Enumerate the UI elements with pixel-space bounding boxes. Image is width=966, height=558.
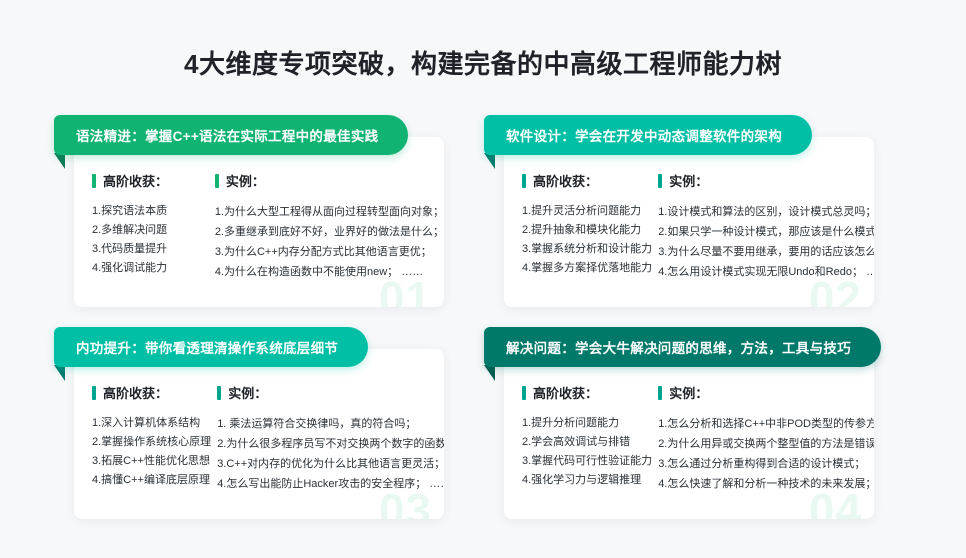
gains-heading: 高阶收获： (92, 171, 209, 190)
list-item: 2.掌握操作系统核心原理 (92, 433, 211, 452)
card-body: 01 高阶收获： 1.探究语法本质 2.多维解决问题 3.代码质量提升 4.强化… (74, 137, 444, 307)
list-item: 4.强化调试能力 (92, 259, 209, 278)
examples-heading: 实例： (658, 383, 874, 402)
list-item: 3.掌握系统分析和设计能力 (522, 240, 652, 259)
accent-bar-icon (215, 174, 219, 188)
gains-heading: 高阶收获： (92, 383, 211, 402)
gains-list: 1.提升灵活分析问题能力 2.提升抽象和模块化能力 3.掌握系统分析和设计能力 … (522, 202, 652, 278)
gains-list: 1.探究语法本质 2.多维解决问题 3.代码质量提升 4.强化调试能力 (92, 202, 209, 278)
examples-heading: 实例： (215, 171, 444, 190)
card-body: 04 高阶收获： 1.提升分析问题能力 2.学会高效调试与排错 3.掌握代码可行… (504, 349, 874, 519)
card-body: 03 高阶收获： 1.深入计算机体系结构 2.掌握操作系统核心原理 3.拓展C+… (74, 349, 444, 519)
list-item: 3.掌握代码可行性验证能力 (522, 452, 652, 471)
list-item: 1. 乘法运算符合交换律吗，真的符合吗； (217, 414, 444, 434)
list-item: 2.多重继承到底好不好，业界好的做法是什么； (215, 222, 444, 242)
card-ribbon-header[interactable]: 语法精进：掌握C++语法在实际工程中的最佳实践 (54, 115, 408, 155)
accent-bar-icon (92, 174, 96, 188)
list-item: 3.C++对内存的优化为什么比其他语言更灵活； (217, 454, 444, 474)
gains-column: 高阶收获： 1.深入计算机体系结构 2.掌握操作系统核心原理 3.拓展C++性能… (74, 383, 211, 494)
list-item: 4.搞懂C++编译底层原理 (92, 471, 211, 490)
card-ribbon-header[interactable]: 解决问题：学会大牛解决问题的思维，方法，工具与技巧 (484, 327, 881, 367)
examples-list: 1.为什么大型工程得从面向过程转型面向对象； 2.多重继承到底好不好，业界好的做… (215, 202, 444, 282)
examples-column: 实例： 1.怎么分析和选择C++中非POD类型的传参方式； 2.为什么用异或交换… (652, 383, 874, 494)
gains-column: 高阶收获： 1.探究语法本质 2.多维解决问题 3.代码质量提升 4.强化调试能… (74, 171, 209, 282)
gains-heading: 高阶收获： (522, 171, 652, 190)
gains-column: 高阶收获： 1.提升灵活分析问题能力 2.提升抽象和模块化能力 3.掌握系统分析… (504, 171, 652, 282)
capability-card[interactable]: 03 高阶收获： 1.深入计算机体系结构 2.掌握操作系统核心原理 3.拓展C+… (52, 327, 444, 519)
accent-bar-icon (658, 174, 662, 188)
examples-column: 实例： 1.为什么大型工程得从面向过程转型面向对象； 2.多重继承到底好不好，业… (209, 171, 444, 282)
list-item: 3.拓展C++性能优化思想 (92, 452, 211, 471)
examples-list: 1.设计模式和算法的区别，设计模式总灵吗； 2.如果只学一种设计模式，那应该是什… (658, 202, 874, 282)
accent-bar-icon (217, 386, 221, 400)
examples-heading-label: 实例： (228, 383, 267, 402)
examples-heading-label: 实例： (669, 383, 708, 402)
list-item: 4.怎么用设计模式实现无限Undo和Redo； …… (658, 262, 874, 282)
list-item: 4.掌握多方案择优落地能力 (522, 259, 652, 278)
capability-card-grid: 01 高阶收获： 1.探究语法本质 2.多维解决问题 3.代码质量提升 4.强化… (52, 115, 918, 519)
list-item: 2.学会高效调试与排错 (522, 433, 652, 452)
capability-card[interactable]: 02 高阶收获： 1.提升灵活分析问题能力 2.提升抽象和模块化能力 3.掌握系… (482, 115, 874, 307)
card-columns: 高阶收获： 1.提升灵活分析问题能力 2.提升抽象和模块化能力 3.掌握系统分析… (504, 171, 874, 282)
ribbon-fold-icon (484, 365, 495, 381)
gains-heading-label: 高阶收获： (533, 171, 598, 190)
capability-card[interactable]: 04 高阶收获： 1.提升分析问题能力 2.学会高效调试与排错 3.掌握代码可行… (482, 327, 874, 519)
gains-column: 高阶收获： 1.提升分析问题能力 2.学会高效调试与排错 3.掌握代码可行性验证… (504, 383, 652, 494)
examples-heading: 实例： (658, 171, 874, 190)
accent-bar-icon (522, 386, 526, 400)
gains-list: 1.深入计算机体系结构 2.掌握操作系统核心原理 3.拓展C++性能优化思想 4… (92, 414, 211, 490)
examples-heading: 实例： (217, 383, 444, 402)
card-columns: 高阶收获： 1.探究语法本质 2.多维解决问题 3.代码质量提升 4.强化调试能… (74, 171, 444, 282)
card-columns: 高阶收获： 1.深入计算机体系结构 2.掌握操作系统核心原理 3.拓展C++性能… (74, 383, 444, 494)
list-item: 1.深入计算机体系结构 (92, 414, 211, 433)
list-item: 2.如果只学一种设计模式，那应该是什么模式； (658, 222, 874, 242)
list-item: 2.提升抽象和模块化能力 (522, 221, 652, 240)
list-item: 3.为什么尽量不要用继承，要用的话应该怎么做； (658, 242, 874, 262)
capability-card[interactable]: 01 高阶收获： 1.探究语法本质 2.多维解决问题 3.代码质量提升 4.强化… (52, 115, 444, 307)
card-ribbon-title: 软件设计：学会在开发中动态调整软件的架构 (506, 125, 782, 145)
ribbon-fold-icon (484, 153, 495, 169)
list-item: 1.提升灵活分析问题能力 (522, 202, 652, 221)
list-item: 1.为什么大型工程得从面向过程转型面向对象； (215, 202, 444, 222)
card-ribbon-title: 解决问题：学会大牛解决问题的思维，方法，工具与技巧 (506, 337, 851, 357)
ribbon-fold-icon (54, 153, 65, 169)
gains-heading-label: 高阶收获： (533, 383, 598, 402)
list-item: 3.怎么通过分析重构得到合适的设计模式； (658, 454, 874, 474)
list-item: 4.怎么写出能防止Hacker攻击的安全程序； …… (217, 474, 444, 494)
list-item: 2.为什么用异或交换两个整型值的方法是错误的； (658, 434, 874, 454)
list-item: 1.探究语法本质 (92, 202, 209, 221)
poster-root: 4大维度专项突破，构建完备的中高级工程师能力树 01 高阶收获： 1.探究语法本… (0, 0, 966, 558)
list-item: 1.设计模式和算法的区别，设计模式总灵吗； (658, 202, 874, 222)
examples-column: 实例： 1.设计模式和算法的区别，设计模式总灵吗； 2.如果只学一种设计模式，那… (652, 171, 874, 282)
list-item: 1.怎么分析和选择C++中非POD类型的传参方式； (658, 414, 874, 434)
accent-bar-icon (92, 386, 96, 400)
list-item: 4.为什么在构造函数中不能使用new； …… (215, 262, 444, 282)
list-item: 3.代码质量提升 (92, 240, 209, 259)
card-ribbon-header[interactable]: 内功提升：带你看透理清操作系统底层细节 (54, 327, 368, 367)
card-ribbon-header[interactable]: 软件设计：学会在开发中动态调整软件的架构 (484, 115, 812, 155)
examples-column: 实例： 1. 乘法运算符合交换律吗，真的符合吗； 2.为什么很多程序员写不对交换… (211, 383, 444, 494)
gains-list: 1.提升分析问题能力 2.学会高效调试与排错 3.掌握代码可行性验证能力 4.强… (522, 414, 652, 490)
card-ribbon-title: 语法精进：掌握C++语法在实际工程中的最佳实践 (76, 125, 378, 145)
list-item: 2.多维解决问题 (92, 221, 209, 240)
list-item: 4.强化学习力与逻辑推理 (522, 471, 652, 490)
gains-heading-label: 高阶收获： (103, 383, 168, 402)
gains-heading-label: 高阶收获： (103, 171, 168, 190)
card-body: 02 高阶收获： 1.提升灵活分析问题能力 2.提升抽象和模块化能力 3.掌握系… (504, 137, 874, 307)
ribbon-fold-icon (54, 365, 65, 381)
card-columns: 高阶收获： 1.提升分析问题能力 2.学会高效调试与排错 3.掌握代码可行性验证… (504, 383, 874, 494)
list-item: 2.为什么很多程序员写不对交换两个数字的函数； (217, 434, 444, 454)
card-ribbon-title: 内功提升：带你看透理清操作系统底层细节 (76, 337, 338, 357)
accent-bar-icon (522, 174, 526, 188)
examples-heading-label: 实例： (226, 171, 265, 190)
gains-heading: 高阶收获： (522, 383, 652, 402)
page-title: 4大维度专项突破，构建完备的中高级工程师能力树 (0, 44, 966, 81)
examples-list: 1.怎么分析和选择C++中非POD类型的传参方式； 2.为什么用异或交换两个整型… (658, 414, 874, 494)
accent-bar-icon (658, 386, 662, 400)
list-item: 1.提升分析问题能力 (522, 414, 652, 433)
examples-list: 1. 乘法运算符合交换律吗，真的符合吗； 2.为什么很多程序员写不对交换两个数字… (217, 414, 444, 494)
list-item: 4.怎么快速了解和分析一种技术的未来发展； …… (658, 474, 874, 494)
list-item: 3.为什么C++内存分配方式比其他语言更优； (215, 242, 444, 262)
examples-heading-label: 实例： (669, 171, 708, 190)
